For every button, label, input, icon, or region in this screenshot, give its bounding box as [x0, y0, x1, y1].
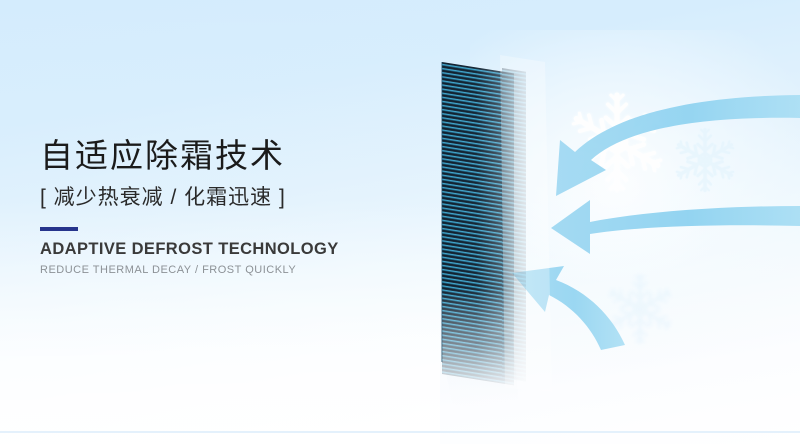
- bottom-divider-rule: [0, 431, 800, 433]
- page-subtitle: [ 减少热衰减 / 化霜迅速 ]: [40, 184, 400, 211]
- illustration-hit-area: [420, 40, 780, 400]
- english-subtitle: REDUCE THERMAL DECAY / FROST QUICKLY: [40, 264, 400, 276]
- english-title: ADAPTIVE DEFROST TECHNOLOGY: [40, 240, 400, 259]
- page-title: 自适应除霜技术: [40, 136, 400, 177]
- accent-divider: [40, 227, 78, 231]
- text-block: 自适应除霜技术 [ 减少热衰减 / 化霜迅速 ] ADAPTIVE DEFROS…: [40, 136, 400, 276]
- adaptive-defrost-banner: 自适应除霜技术 [ 减少热衰减 / 化霜迅速 ] ADAPTIVE DEFROS…: [0, 0, 800, 444]
